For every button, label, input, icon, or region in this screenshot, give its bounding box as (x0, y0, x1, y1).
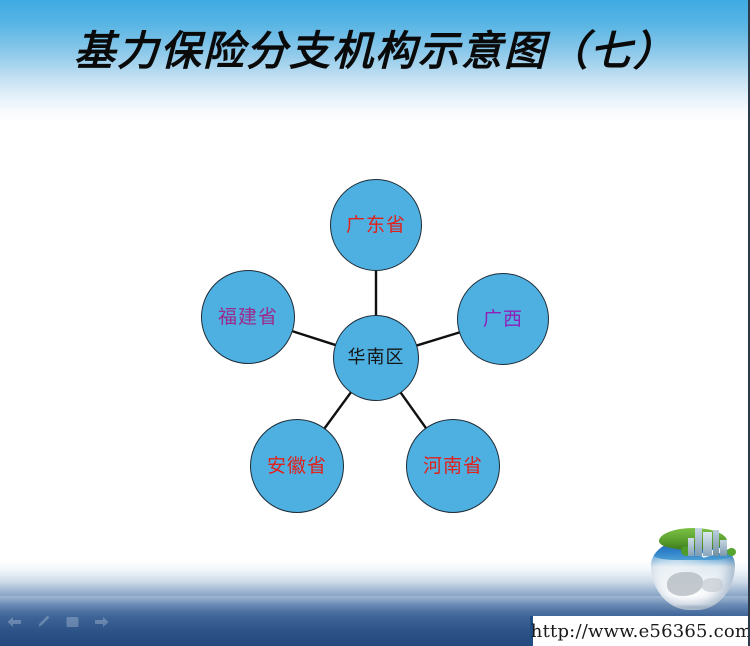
diagram-node-center[interactable]: 华南区 (333, 315, 419, 401)
diagram-node-label: 安徽省 (267, 457, 327, 476)
diagram-node-label: 福建省 (218, 308, 278, 327)
tree-icon (727, 548, 736, 556)
slideshow-nav-controls[interactable] (6, 614, 110, 629)
org-structure-diagram: 华南区 广东省 福建省 广西 安徽省 河南省 (0, 0, 750, 646)
building-icon (720, 540, 727, 556)
diagram-node-anhui[interactable]: 安徽省 (250, 419, 344, 513)
diagram-node-label: 广东省 (346, 216, 406, 235)
previous-arrow-icon[interactable] (6, 614, 23, 629)
pen-icon[interactable] (35, 614, 52, 629)
next-arrow-icon[interactable] (93, 614, 110, 629)
diagram-node-label: 河南省 (423, 457, 483, 476)
diagram-node-guangxi[interactable]: 广西 (457, 273, 549, 365)
globe-city-logo (645, 516, 741, 612)
building-icon (713, 530, 719, 556)
building-icon (695, 528, 702, 556)
building-icon (703, 532, 712, 556)
slide-canvas: 基力保险分支机构示意图（七） 华南区 广东省 福建省 广西 安徽省 河南省 (0, 0, 750, 646)
globe-continent-icon (667, 572, 703, 596)
globe-grass-island (659, 528, 727, 550)
globe-shadow (657, 604, 729, 611)
diagram-node-henan[interactable]: 河南省 (406, 419, 500, 513)
diagram-node-label: 华南区 (348, 349, 405, 367)
menu-square-icon[interactable] (64, 614, 81, 629)
diagram-node-label: 广西 (483, 310, 523, 329)
watermark-url-text: http://www.e56365.com (531, 621, 750, 642)
diagram-node-fujian[interactable]: 福建省 (201, 270, 295, 364)
watermark-url-box: http://www.e56365.com (530, 616, 750, 646)
diagram-node-guangdong[interactable]: 广东省 (330, 179, 422, 271)
globe-continent-icon (701, 578, 723, 592)
building-icon (688, 538, 694, 556)
